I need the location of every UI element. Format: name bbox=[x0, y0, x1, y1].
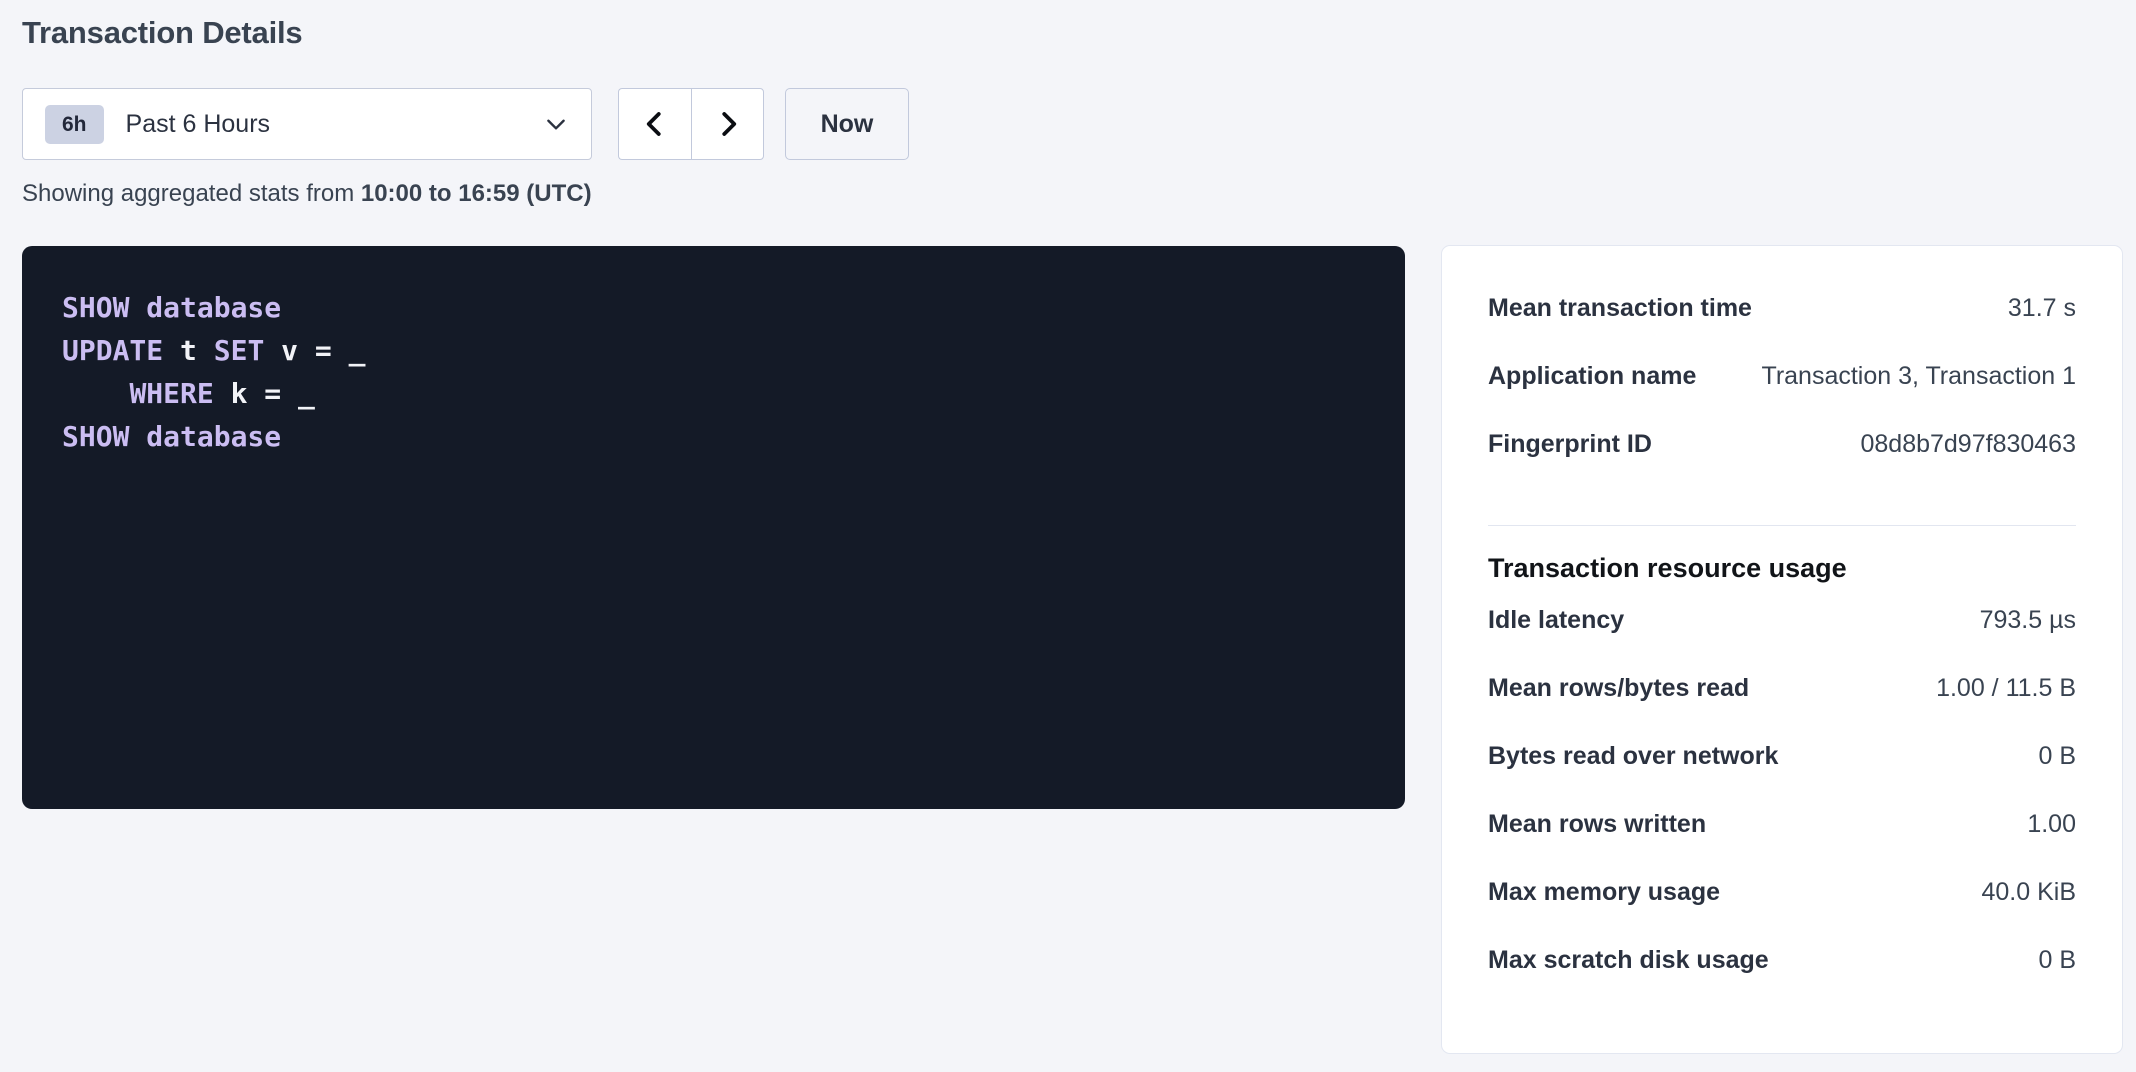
section-divider bbox=[1488, 525, 2076, 526]
sql-keyword: WHERE bbox=[129, 377, 213, 410]
time-range-badge: 6h bbox=[45, 105, 104, 144]
sql-identifier bbox=[62, 377, 129, 410]
stat-row: Max memory usage40.0 KiB bbox=[1488, 878, 2076, 946]
sql-code-line: UPDATE t SET v = _ bbox=[62, 329, 1405, 372]
sql-identifier: t bbox=[163, 334, 214, 367]
chevron-left-icon bbox=[640, 109, 670, 139]
chevron-down-icon bbox=[543, 111, 569, 137]
range-note-emphasis: 10:00 to 16:59 (UTC) bbox=[361, 180, 592, 207]
stat-row: Application nameTransaction 3, Transacti… bbox=[1488, 362, 2076, 430]
sql-identifier: k = _ bbox=[214, 377, 315, 410]
sql-code-panel[interactable]: SHOW databaseUPDATE t SET v = _ WHERE k … bbox=[22, 246, 1405, 809]
chevron-right-icon bbox=[713, 109, 743, 139]
resource-usage-title: Transaction resource usage bbox=[1488, 553, 2076, 584]
stat-value: Transaction 3, Transaction 1 bbox=[1761, 362, 2076, 391]
stat-label: Mean rows/bytes read bbox=[1488, 674, 1749, 703]
sql-keyword: UPDATE bbox=[62, 334, 163, 367]
range-note: Showing aggregated stats from 10:00 to 1… bbox=[22, 180, 592, 208]
stat-row: Mean rows/bytes read1.00 / 11.5 B bbox=[1488, 674, 2076, 742]
sql-identifier: v = _ bbox=[264, 334, 365, 367]
stat-row: Mean transaction time31.7 s bbox=[1488, 294, 2076, 362]
now-button[interactable]: Now bbox=[785, 88, 909, 160]
time-range-toolbar: 6h Past 6 Hours bbox=[22, 88, 909, 160]
page-title: Transaction Details bbox=[22, 15, 302, 51]
stat-value: 31.7 s bbox=[2008, 294, 2076, 323]
stat-label: Application name bbox=[1488, 362, 1696, 391]
stat-label: Mean transaction time bbox=[1488, 294, 1752, 323]
stat-row: Fingerprint ID08d8b7d97f830463 bbox=[1488, 430, 2076, 498]
transaction-stats-card: Mean transaction time31.7 sApplication n… bbox=[1441, 245, 2123, 1054]
stat-row: Mean rows written1.00 bbox=[1488, 810, 2076, 878]
sql-code-line: SHOW database bbox=[62, 415, 1405, 458]
sql-keyword: SHOW database bbox=[62, 291, 281, 324]
previous-period-button[interactable] bbox=[618, 88, 691, 160]
range-note-prefix: Showing aggregated stats from bbox=[22, 180, 361, 207]
sql-code-line: SHOW database bbox=[62, 286, 1405, 329]
time-range-label: Past 6 Hours bbox=[126, 110, 543, 139]
sql-keyword: SET bbox=[214, 334, 265, 367]
stat-value: 1.00 bbox=[2027, 810, 2076, 839]
stat-label: Bytes read over network bbox=[1488, 742, 1778, 771]
stat-row: Bytes read over network0 B bbox=[1488, 742, 2076, 810]
transaction-details-page: Transaction Details 6h Past 6 Hours bbox=[0, 0, 2136, 1072]
stat-label: Fingerprint ID bbox=[1488, 430, 1652, 459]
stat-value: 0 B bbox=[2038, 742, 2076, 771]
stat-value: 40.0 KiB bbox=[1981, 878, 2076, 907]
stat-value: 793.5 µs bbox=[1980, 606, 2076, 635]
sql-keyword: SHOW database bbox=[62, 420, 281, 453]
sql-code-text: SHOW databaseUPDATE t SET v = _ WHERE k … bbox=[62, 286, 1405, 458]
stat-value: 08d8b7d97f830463 bbox=[1860, 430, 2076, 459]
stat-value: 0 B bbox=[2038, 946, 2076, 975]
stat-row: Max scratch disk usage0 B bbox=[1488, 946, 2076, 1014]
stat-label: Max memory usage bbox=[1488, 878, 1720, 907]
stat-label: Max scratch disk usage bbox=[1488, 946, 1769, 975]
time-range-select[interactable]: 6h Past 6 Hours bbox=[22, 88, 592, 160]
stat-label: Mean rows written bbox=[1488, 810, 1706, 839]
stat-row: Idle latency793.5 µs bbox=[1488, 606, 2076, 674]
resource-stats-list: Idle latency793.5 µsMean rows/bytes read… bbox=[1488, 606, 2076, 1014]
next-period-button[interactable] bbox=[691, 88, 764, 160]
stat-label: Idle latency bbox=[1488, 606, 1624, 635]
stat-value: 1.00 / 11.5 B bbox=[1936, 674, 2076, 703]
time-nav-group bbox=[618, 88, 764, 160]
sql-code-line: WHERE k = _ bbox=[62, 372, 1405, 415]
summary-stats-list: Mean transaction time31.7 sApplication n… bbox=[1488, 294, 2076, 498]
